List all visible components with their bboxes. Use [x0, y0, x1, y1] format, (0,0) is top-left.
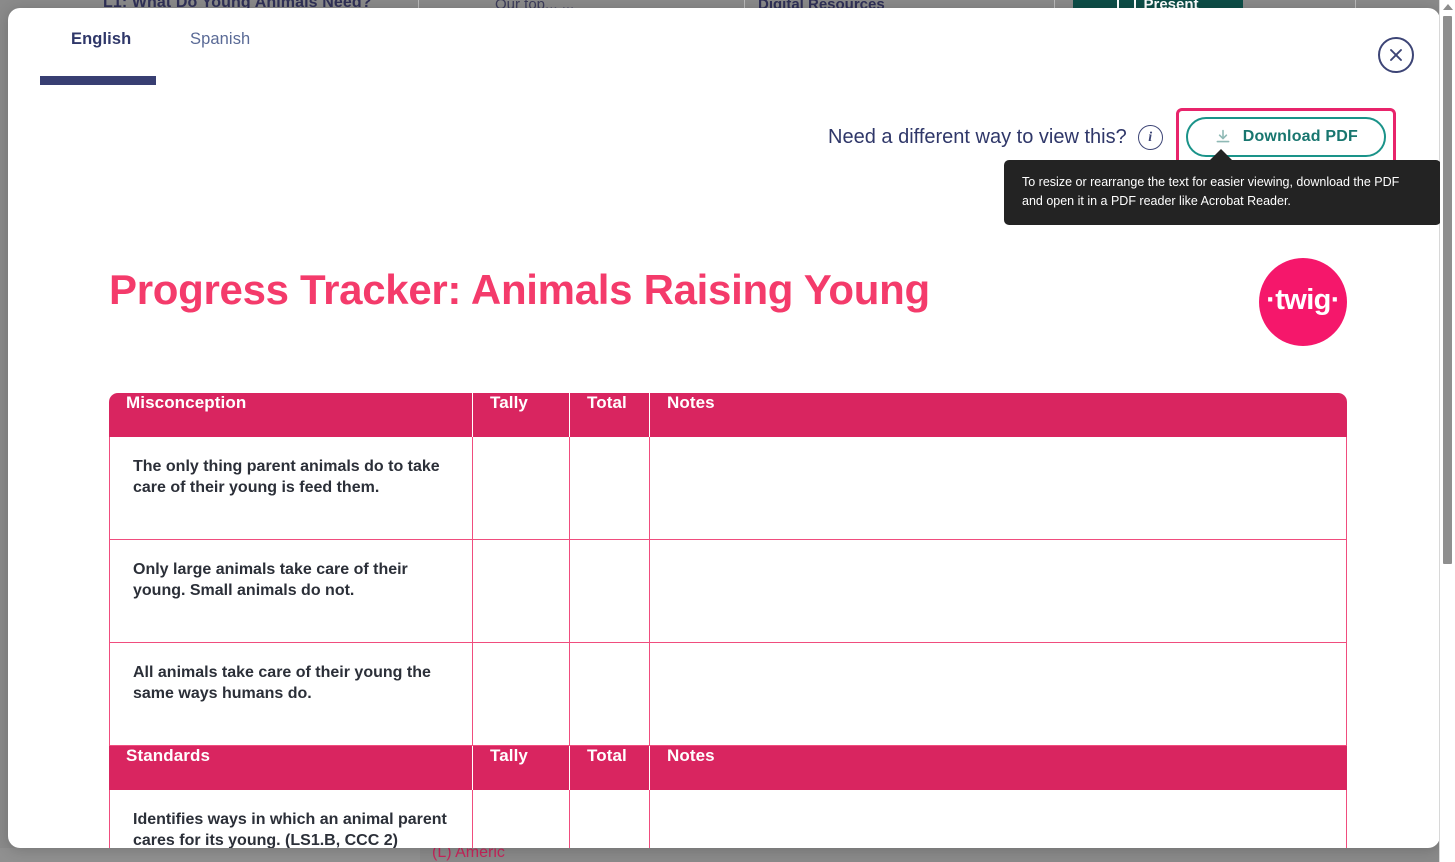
total-cell[interactable] — [570, 540, 650, 643]
column-header-total: Total — [570, 746, 650, 790]
progress-tracker-table: Misconception Tally Total Notes The only… — [109, 393, 1347, 848]
misconception-cell: Only large animals take care of their yo… — [109, 540, 473, 643]
download-pdf-label: Download PDF — [1243, 128, 1358, 146]
total-cell[interactable] — [570, 643, 650, 746]
total-cell[interactable] — [570, 437, 650, 540]
background-bottom-lighter — [0, 848, 420, 862]
screen: L1: What Do Young Animals Need? Our top.… — [0, 0, 1455, 862]
close-modal-button[interactable] — [1378, 37, 1414, 73]
resource-preview-modal: English Spanish Need a different way to … — [8, 8, 1440, 848]
document-preview: Progress Tracker: Animals Raising Young … — [8, 218, 1416, 848]
scrollbar-track[interactable] — [1440, 0, 1455, 862]
notes-cell[interactable] — [650, 643, 1347, 746]
download-prompt-text: Need a different way to view this? — [828, 126, 1127, 149]
misconception-cell: All animals take care of their young the… — [109, 643, 473, 746]
table-header-row-standards: Standards Tally Total Notes — [109, 746, 1347, 790]
notes-cell[interactable] — [650, 437, 1347, 540]
tally-cell[interactable] — [473, 437, 570, 540]
background-bottom-strip — [0, 848, 1455, 862]
column-header-notes: Notes — [650, 393, 1347, 437]
download-icon — [1214, 128, 1232, 146]
tab-spanish[interactable]: Spanish — [190, 30, 250, 49]
tab-english[interactable]: English — [71, 30, 131, 49]
column-header-tally: Tally — [473, 746, 570, 790]
notes-cell[interactable] — [650, 540, 1347, 643]
column-header-notes: Notes — [650, 746, 1347, 790]
download-tooltip: To resize or rearrange the text for easi… — [1004, 160, 1440, 225]
misconception-cell: The only thing parent animals do to take… — [109, 437, 473, 540]
info-icon[interactable]: i — [1138, 125, 1163, 150]
standard-cell: Identifies ways in which an animal paren… — [109, 790, 473, 848]
table-row: Identifies ways in which an animal paren… — [109, 790, 1347, 848]
tally-cell[interactable] — [473, 643, 570, 746]
close-icon — [1388, 47, 1404, 63]
table-row: Only large animals take care of their yo… — [109, 540, 1347, 643]
table-row: All animals take care of their young the… — [109, 643, 1347, 746]
table-row: The only thing parent animals do to take… — [109, 437, 1347, 540]
twig-logo-text: ·twig· — [1266, 284, 1340, 317]
tally-cell[interactable] — [473, 790, 570, 848]
notes-cell[interactable] — [650, 790, 1347, 848]
language-tabs: English Spanish — [8, 30, 1440, 96]
table-header-row-misconception: Misconception Tally Total Notes — [109, 393, 1347, 437]
column-header-standards: Standards — [109, 746, 473, 790]
tooltip-arrow — [1209, 149, 1233, 161]
scrollbar[interactable] — [1440, 0, 1455, 862]
total-cell[interactable] — [570, 790, 650, 848]
document-title: Progress Tracker: Animals Raising Young — [109, 266, 930, 314]
scroll-up-arrow-icon[interactable] — [1443, 4, 1453, 10]
column-header-tally: Tally — [473, 393, 570, 437]
twig-logo: ·twig· — [1259, 258, 1347, 346]
column-header-misconception: Misconception — [109, 393, 473, 437]
active-tab-indicator — [40, 76, 156, 85]
column-header-total: Total — [570, 393, 650, 437]
tally-cell[interactable] — [473, 540, 570, 643]
scrollbar-thumb[interactable] — [1443, 16, 1452, 564]
download-row: Need a different way to view this? i Dow… — [828, 108, 1396, 167]
